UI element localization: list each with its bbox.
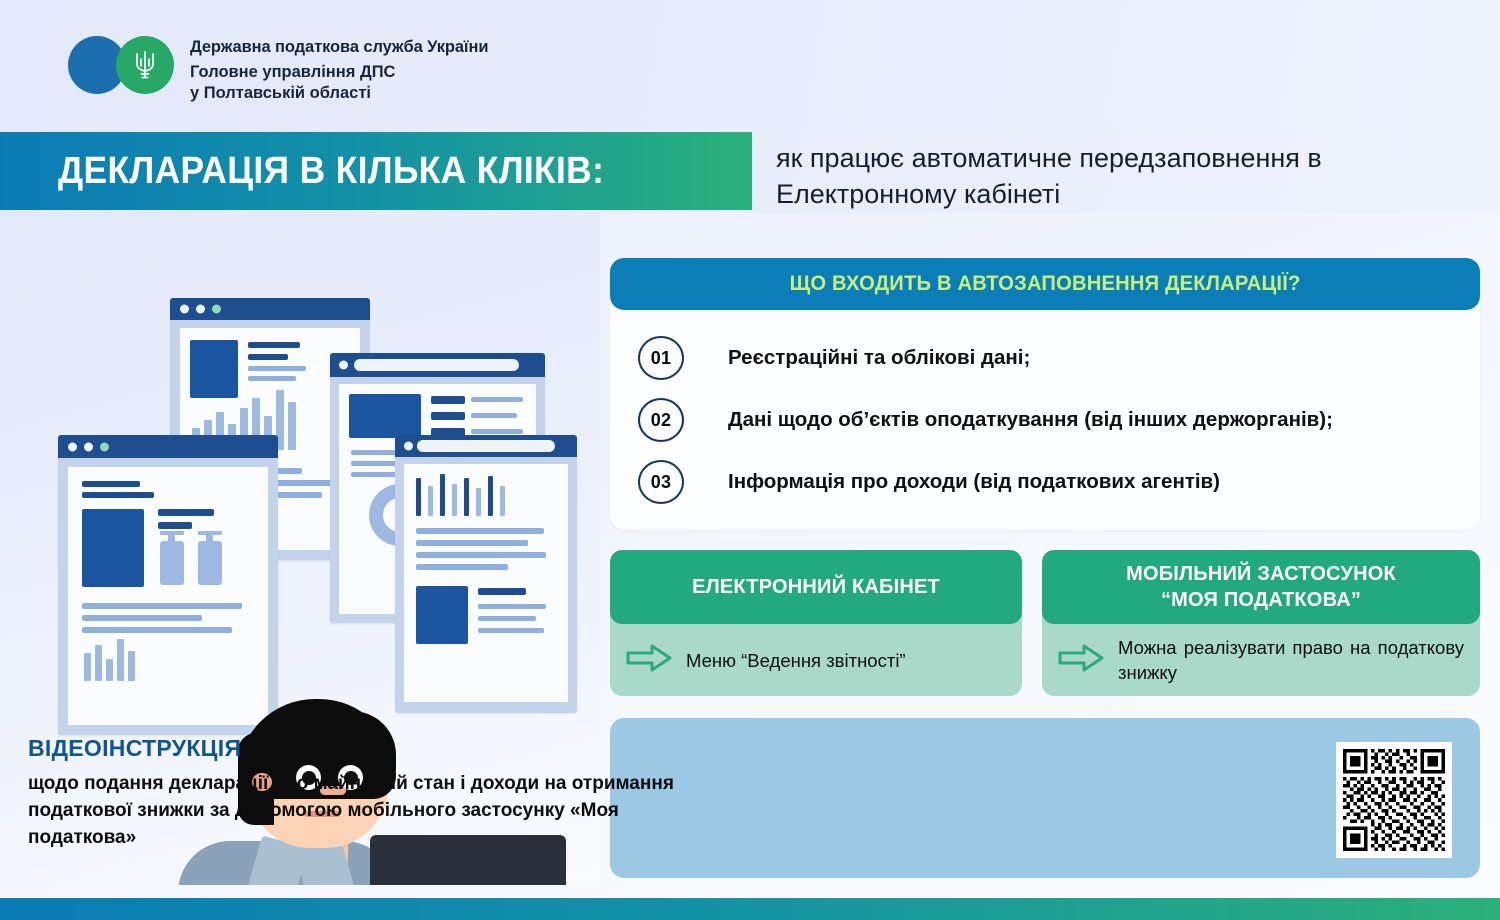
chart-bar [198, 541, 222, 585]
page-line [82, 603, 242, 609]
video-card-body: щодо подання декларації про майновий ста… [28, 770, 688, 851]
chart-bar [117, 639, 124, 681]
list-item: 03 Інформація про доходи (від податкових… [638, 460, 1220, 504]
page-line [416, 528, 544, 534]
chart-bar [476, 488, 481, 516]
footer-gradient-strip [0, 898, 1500, 920]
window-dot-icon [180, 305, 189, 314]
channel-card-body: Можна реалізувати право на податкову зни… [1042, 624, 1480, 696]
window-title-bar [330, 353, 545, 377]
arrow-right-icon [626, 643, 672, 678]
page-line [248, 376, 296, 381]
page-line [478, 616, 536, 621]
page-line [478, 588, 526, 595]
autofill-card-heading: ЩО ВХОДИТЬ В АВТОЗАПОВНЕННЯ ДЕКЛАРАЦІЇ? [790, 272, 1301, 296]
page-line [471, 429, 523, 434]
page-image-block [82, 509, 144, 587]
window-page [68, 467, 268, 725]
list-item: 02 Дані щодо об’єктів оподаткування (від… [638, 398, 1333, 442]
main-title-banner: ДЕКЛАРАЦІЯ В КІЛЬКА КЛІКІВ: [0, 132, 752, 210]
chart-bar [488, 476, 493, 516]
list-item-text: Дані щодо об’єктів оподаткування (від ін… [728, 408, 1333, 432]
org-line-3: у Полтавській області [190, 83, 488, 104]
page-header: Державна податкова служба України Головн… [0, 0, 1500, 125]
channel-card-mobile-app[interactable]: МОБІЛЬНИЙ ЗАСТОСУНОК “МОЯ ПОДАТКОВА” Мож… [1042, 550, 1480, 696]
channel-card-electronic-cabinet[interactable]: ЕЛЕКТРОННИЙ КАБІНЕТ Меню “Ведення звітно… [610, 550, 1022, 696]
list-number: 03 [651, 472, 672, 493]
page-line [416, 552, 546, 558]
channel-card-title-line2: “МОЯ ПОДАТКОВА” [1161, 587, 1361, 613]
list-item-text: Реєстраційні та облікові дані; [728, 346, 1030, 370]
document-window-front [395, 435, 577, 713]
autofill-card: ЩО ВХОДИТЬ В АВТОЗАПОВНЕННЯ ДЕКЛАРАЦІЇ? … [610, 258, 1480, 530]
channel-card-title: ЕЛЕКТРОННИЙ КАБІНЕТ [692, 574, 940, 600]
page-line [82, 492, 154, 498]
page-image-block [416, 586, 468, 644]
list-number: 02 [651, 410, 672, 431]
page-line [471, 413, 517, 418]
chart-bar [416, 478, 421, 516]
org-line-1: Державна податкова служба України [190, 36, 488, 58]
chart-bar [428, 486, 433, 516]
page-line [248, 342, 300, 348]
window-dot-icon [100, 442, 109, 451]
page-line [478, 604, 546, 609]
organization-name: Державна податкова служба України Головн… [190, 36, 488, 104]
page-line [471, 397, 523, 402]
page-image-block [190, 340, 238, 398]
shirt-placket [308, 863, 313, 885]
window-address-bar [417, 440, 555, 452]
chart-bar [440, 474, 445, 516]
channel-card-header: ЕЛЕКТРОННИЙ КАБІНЕТ [610, 550, 1022, 624]
list-number: 01 [651, 348, 672, 369]
channel-card-text: Можна реалізувати право на податкову зни… [1118, 635, 1464, 685]
page-line [431, 412, 465, 420]
page-line [248, 366, 306, 371]
window-address-bar [354, 359, 519, 371]
chart-bar [464, 478, 469, 516]
chart-bar [160, 541, 184, 585]
list-number-badge: 02 [638, 398, 684, 442]
window-dot-icon [68, 442, 77, 451]
list-item-text: Інформація про доходи (від податкових аг… [728, 470, 1220, 494]
qr-code[interactable] [1336, 742, 1452, 858]
page-line [158, 522, 192, 529]
channel-card-body: Меню “Ведення звітності” [610, 624, 1022, 696]
autofill-card-header: ЩО ВХОДИТЬ В АВТОЗАПОВНЕННЯ ДЕКЛАРАЦІЇ? [610, 258, 1480, 310]
page-line [351, 461, 399, 466]
window-page [404, 464, 568, 702]
subtitle-text: як працює автоматичне передзаповнення в … [776, 140, 1476, 212]
document-window-left [58, 435, 278, 735]
arrow-right-icon [1058, 643, 1104, 678]
chart-bar [84, 653, 91, 681]
window-dot-icon [196, 305, 205, 314]
channel-card-text: Меню “Ведення звітності” [686, 648, 906, 673]
window-title-bar [58, 435, 278, 458]
window-title-bar [170, 298, 370, 320]
page-line [82, 615, 202, 621]
window-dot-icon [212, 305, 221, 314]
video-instruction-card [610, 718, 1480, 878]
page-line [416, 564, 508, 570]
page-line [416, 540, 528, 546]
list-number-badge: 03 [638, 460, 684, 504]
page-line [82, 627, 232, 633]
chart-bar [198, 531, 222, 535]
chart-bar [288, 402, 296, 450]
channel-card-header: МОБІЛЬНИЙ ЗАСТОСУНОК “МОЯ ПОДАТКОВА” [1042, 550, 1480, 624]
window-dot-icon [339, 361, 348, 370]
main-title-text: ДЕКЛАРАЦІЯ В КІЛЬКА КЛІКІВ: [58, 150, 604, 193]
list-number-badge: 01 [638, 336, 684, 380]
window-dot-icon [404, 442, 413, 451]
chart-bar [452, 484, 457, 516]
chart-bar [160, 531, 184, 535]
chart-bar [500, 486, 505, 516]
chart-bar [128, 651, 135, 681]
page-line [478, 628, 544, 633]
page-line [82, 481, 140, 487]
logo-circles [68, 36, 174, 94]
page-image-block [349, 394, 421, 438]
list-item: 01 Реєстраційні та облікові дані; [638, 336, 1030, 380]
page-line [248, 354, 288, 360]
organization-logo: Державна податкова служба України Головн… [68, 36, 488, 104]
window-title-bar [395, 435, 577, 457]
ukraine-trident-icon [116, 36, 174, 94]
window-dot-icon [84, 442, 93, 451]
chart-bar [106, 659, 113, 681]
channel-card-title-line1: МОБІЛЬНИЙ ЗАСТОСУНОК [1126, 561, 1396, 587]
chart-bar [95, 645, 102, 681]
page-line [431, 396, 465, 404]
org-line-2: Головне управління ДПС [190, 62, 488, 83]
video-card-title: ВІДЕОІНСТРУКЦІЯ [28, 735, 241, 762]
page-line [158, 509, 214, 516]
